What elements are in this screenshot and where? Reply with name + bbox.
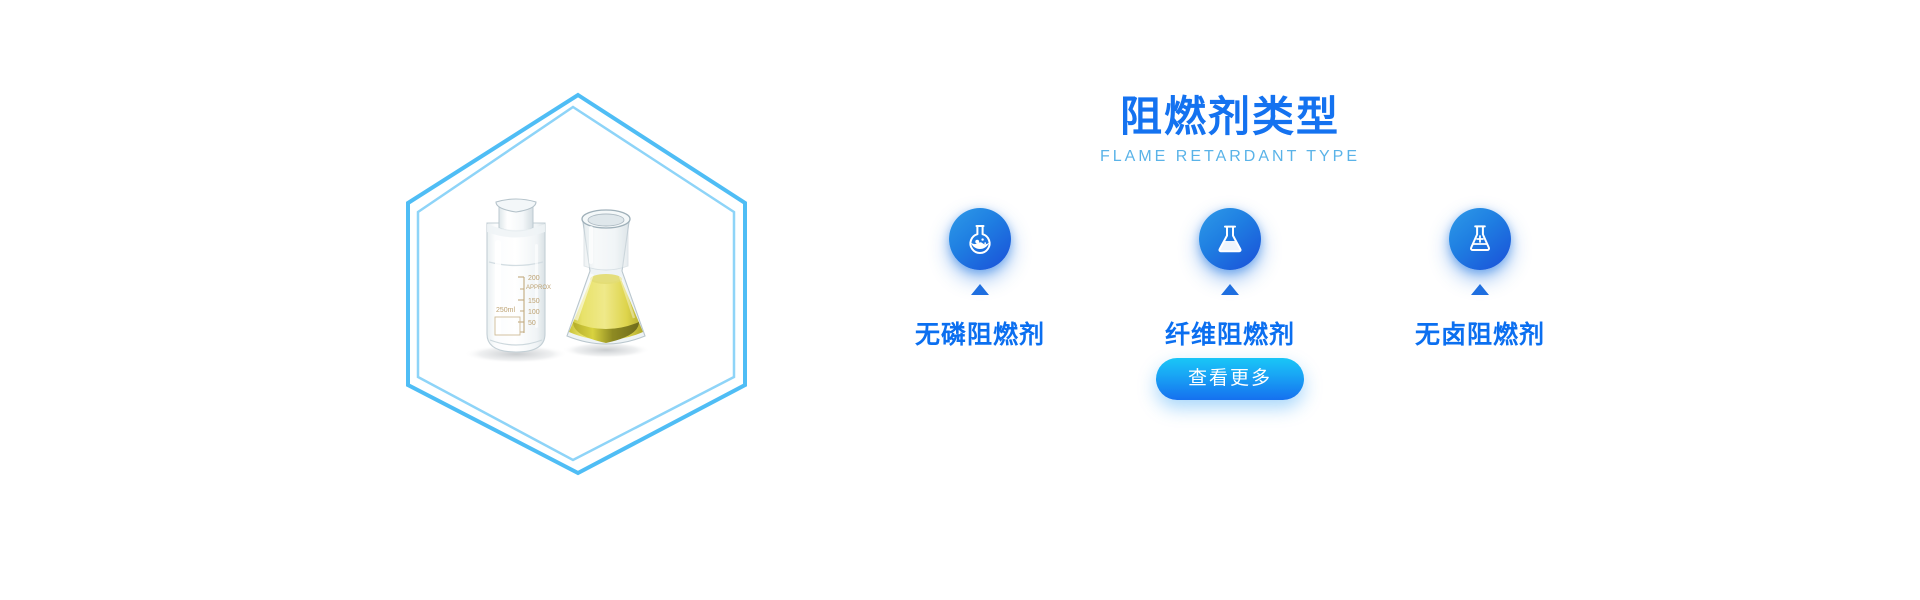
- type-icon-wrap: [949, 208, 1011, 270]
- caret-up-icon: [971, 284, 989, 295]
- svg-text:100: 100: [528, 309, 540, 316]
- type-icon-wrap: [1449, 208, 1511, 270]
- type-item-label: 无磷阻燃剂: [915, 315, 1045, 351]
- view-more-button[interactable]: 查看更多: [1156, 358, 1304, 400]
- type-item-no-phosphorus[interactable]: 无磷阻燃剂: [880, 208, 1080, 351]
- content-column: 阻燃剂类型 FLAME RETARDANT TYPE: [880, 0, 1580, 600]
- page-subtitle: FLAME RETARDANT TYPE: [880, 147, 1580, 166]
- type-item-label: 无卤阻燃剂: [1415, 315, 1545, 351]
- caret-up-icon: [1221, 284, 1239, 295]
- cta-area: 查看更多: [880, 358, 1580, 400]
- hero-visual: 200 APPROX 150 50 100 250ml: [360, 55, 760, 485]
- page-title: 阻燃剂类型: [880, 95, 1580, 139]
- svg-text:200: 200: [528, 275, 540, 282]
- svg-text:250ml: 250ml: [496, 307, 516, 314]
- flask-plus-icon: [1449, 208, 1511, 270]
- type-item-label: 纤维阻燃剂: [1165, 315, 1295, 351]
- product-photo: 200 APPROX 150 50 100 250ml: [440, 140, 690, 390]
- banner-stage: 200 APPROX 150 50 100 250ml: [0, 0, 1920, 600]
- type-item-halogen-free[interactable]: 无卤阻燃剂: [1380, 208, 1580, 351]
- round-flask-bubbles-icon: [949, 208, 1011, 270]
- caret-up-icon: [1471, 284, 1489, 295]
- type-icon-wrap: [1199, 208, 1261, 270]
- heading-block: 阻燃剂类型 FLAME RETARDANT TYPE: [880, 95, 1580, 166]
- type-list: 无磷阻燃剂 纤维阻燃剂: [880, 208, 1580, 351]
- type-item-fiber[interactable]: 纤维阻燃剂: [1130, 208, 1330, 351]
- svg-text:50: 50: [528, 320, 536, 327]
- svg-text:APPROX: APPROX: [526, 285, 551, 291]
- conical-flask-icon: [1199, 208, 1261, 270]
- svg-text:150: 150: [528, 298, 540, 305]
